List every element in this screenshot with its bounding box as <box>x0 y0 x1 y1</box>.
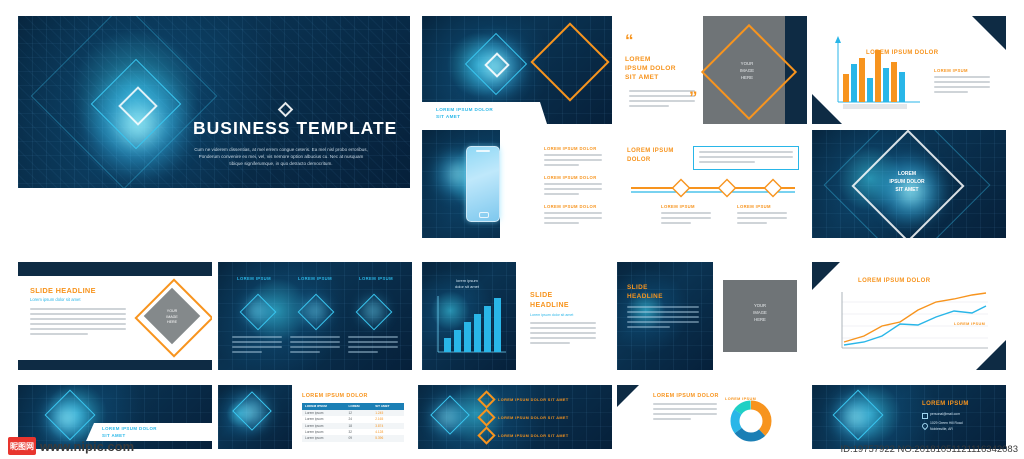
slide-13-headline[interactable]: SLIDE HEADLINE Lorem ipsum dolor sit ame… <box>520 262 612 370</box>
table-title: LOREM IPSUM DOLOR <box>302 393 368 399</box>
watermark: 昵图网 www.nipic.com <box>8 437 134 455</box>
id-text: ID:19757922 NO:20181051121116342083 <box>841 444 1019 455</box>
chart-legend: LOREM IPSUM <box>934 68 968 73</box>
column-text-1 <box>232 336 282 356</box>
timeline-label-1: LOREM IPSUM <box>661 204 711 209</box>
list-item[interactable]: LOREM IPSUM DOLOR SIT AMET <box>480 429 604 442</box>
slide-14-headline-2: HEADLINE <box>627 293 663 300</box>
mail-icon <box>922 413 928 419</box>
table-header-row: LOREM IPSUM LOREM SIT AMET <box>302 403 404 410</box>
table-header-1: LOREM IPSUM <box>302 403 345 410</box>
cell: Lorem ipsum <box>302 435 345 441</box>
table-row: Lorem ipsum 09 5.396 <box>302 435 404 441</box>
timeline-label-2: LOREM IPSUM <box>737 204 787 209</box>
column-titles: LOREM IPSUM LOREM IPSUM LOREM IPSUM <box>228 276 402 281</box>
slide-13-body-lines <box>530 322 596 347</box>
column-text-3 <box>348 336 398 356</box>
contact-email: personal@mail.com <box>930 412 960 416</box>
bar-chart-svg <box>812 16 1006 124</box>
slide-8[interactable]: LOREM IPSUM DOLOR SIT AMET <box>812 130 1006 238</box>
slide-7-timeline[interactable]: LOREM IPSUM DOLOR LOREM IPSUM LOREM IPSU… <box>617 130 807 238</box>
contact-address-2: Noblesville, AR <box>930 427 953 431</box>
feature-title-2: LOREM IPSUM DOLOR <box>544 175 602 180</box>
line-chart-svg <box>812 262 1006 370</box>
slide-13-headline-2: HEADLINE <box>530 302 569 309</box>
column-text-2 <box>290 336 340 356</box>
list-item-label: LOREM IPSUM DOLOR SIT AMET <box>498 434 569 438</box>
quote-heading-1: LOREM <box>625 56 651 63</box>
chart-legend: LOREM IPSUM <box>954 322 985 326</box>
cover-title: BUSINESS TEMPLATE <box>193 118 397 139</box>
chart-body-lines <box>934 76 990 96</box>
cell: 5.396 <box>372 435 404 441</box>
list-item[interactable]: LOREM IPSUM DOLOR SIT AMET <box>480 411 604 424</box>
quote-open-icon: “ <box>625 36 634 46</box>
placeholder-text: YOUR IMAGE HERE <box>154 309 190 326</box>
diamond-bullet-icon <box>477 426 495 444</box>
slide-5-bar-chart[interactable]: LOREM IPSUM DOLOR LOREM IPSUM <box>812 16 1006 124</box>
slide-14-headline-1: SLIDE <box>627 284 648 291</box>
data-table: LOREM IPSUM LOREM SIT AMET Lorem ipsum 1… <box>302 403 404 442</box>
slide-10-headline: SLIDE HEADLINE <box>30 286 96 295</box>
placeholder-line-1: YOUR <box>729 302 791 309</box>
slide-8-line-2: IPSUM DOLOR <box>874 178 940 186</box>
bar-chart-svg <box>422 262 516 370</box>
placeholder-text: YOUR IMAGE HERE <box>729 302 791 323</box>
caption-banner: LOREM IPSUM DOLOR SIT AMET <box>422 102 547 124</box>
feature-title-3: LOREM IPSUM DOLOR <box>544 204 602 209</box>
slide-6-phone[interactable]: LOREM IPSUM DOLOR LOREM IPSUM DOLOR LORE… <box>422 130 612 238</box>
slide-2[interactable]: LOREM IPSUM DOLOR SIT AMET <box>422 16 612 124</box>
phone-home-button <box>479 212 489 218</box>
list-items: LOREM IPSUM DOLOR SIT AMET LOREM IPSUM D… <box>480 393 604 442</box>
slide-10-subline: Lorem ipsum dolor sit amet <box>30 297 81 302</box>
slide-15-line-chart[interactable]: LOREM IPSUM DOLOR LOREM IPSUM <box>812 262 1006 370</box>
feature-title-1: LOREM IPSUM DOLOR <box>544 146 602 151</box>
feature-list: LOREM IPSUM DOLOR LOREM IPSUM DOLOR LORE… <box>544 146 602 227</box>
slide-8-heading: LOREM IPSUM DOLOR SIT AMET <box>874 170 940 194</box>
slide-8-line-3: SIT AMET <box>874 186 940 194</box>
diamond-bullet-icon <box>477 408 495 426</box>
contact-title: LOREM IPSUM <box>922 401 969 407</box>
slide-4-quote[interactable]: “ LOREM IPSUM DOLOR SIT AMET ” <box>617 16 807 124</box>
contact-address-1: 1029 Green Hill Road <box>930 421 963 425</box>
template-sheet: BUSINESS TEMPLATE Cum ne viderem dissent… <box>0 0 1024 459</box>
diamond-bullet-icon <box>477 390 495 408</box>
cell: 09 <box>345 435 372 441</box>
caption-line-1: LOREM IPSUM DOLOR <box>436 107 493 112</box>
column-title-1: LOREM IPSUM <box>228 276 280 281</box>
slide-19-donut-chart[interactable]: LOREM IPSUM DOLOR LOREM IPSUM <box>617 385 807 449</box>
quote-close-icon: ” <box>689 88 698 108</box>
placeholder-line-3: HERE <box>154 320 190 326</box>
slide-17-table[interactable]: LOREM IPSUM DOLOR LOREM IPSUM LOREM SIT … <box>218 385 412 449</box>
slide-14[interactable]: SLIDE HEADLINE YOUR IMAGE HERE <box>617 262 807 370</box>
caption-line-2: SIT AMET <box>436 114 460 119</box>
slide-13-subline: Lorem ipsum dolor sit amet <box>530 313 573 317</box>
caption-line-1: LOREM IPSUM DOLOR <box>102 426 157 431</box>
dark-left-panel <box>218 385 292 449</box>
placeholder-line-2: IMAGE <box>729 309 791 316</box>
slide-11-columns[interactable]: LOREM IPSUM LOREM IPSUM LOREM IPSUM <box>218 262 412 370</box>
cover-body: Cum ne viderem dissentias, at mel errem … <box>193 146 369 167</box>
watermark-logo: 昵图网 <box>8 437 36 455</box>
slide-cover[interactable]: BUSINESS TEMPLATE Cum ne viderem dissent… <box>18 16 410 188</box>
list-item-label: LOREM IPSUM DOLOR SIT AMET <box>498 416 569 420</box>
table-header-3: SIT AMET <box>372 403 404 410</box>
list-item-label: LOREM IPSUM DOLOR SIT AMET <box>498 398 569 402</box>
watermark-text: www.nipic.com <box>40 439 134 454</box>
slide-12-bar-chart[interactable]: lorem ipsum dolor sit amet <box>422 262 516 370</box>
placeholder-line-3: HERE <box>729 316 791 323</box>
column-title-3: LOREM IPSUM <box>350 276 402 281</box>
slide-10-headline[interactable]: SLIDE HEADLINE Lorem ipsum dolor sit ame… <box>18 262 212 370</box>
phone-speaker <box>476 150 490 152</box>
column-title-2: LOREM IPSUM <box>289 276 341 281</box>
timeline-item-1: LOREM IPSUM <box>661 204 711 227</box>
slide-18-list[interactable]: LOREM IPSUM DOLOR SIT AMET LOREM IPSUM D… <box>418 385 612 449</box>
quote-heading-3: SIT AMET <box>625 74 659 81</box>
slide-13-headline-1: SLIDE <box>530 292 553 299</box>
quote-heading-2: IPSUM DOLOR <box>625 65 676 72</box>
slide-8-line-1: LOREM <box>874 170 940 178</box>
table-header-2: LOREM <box>345 403 372 410</box>
slide-14-body-lines <box>627 306 699 331</box>
slide-10-body-lines <box>30 308 126 338</box>
smartphone-mockup <box>466 146 500 222</box>
list-item[interactable]: LOREM IPSUM DOLOR SIT AMET <box>480 393 604 406</box>
slide-20-contact[interactable]: LOREM IPSUM personal@mail.com 1029 Green… <box>812 385 1006 449</box>
chart-legend: LOREM IPSUM <box>725 397 756 401</box>
timeline-item-2: LOREM IPSUM <box>737 204 787 227</box>
donut-chart-svg <box>617 385 807 449</box>
